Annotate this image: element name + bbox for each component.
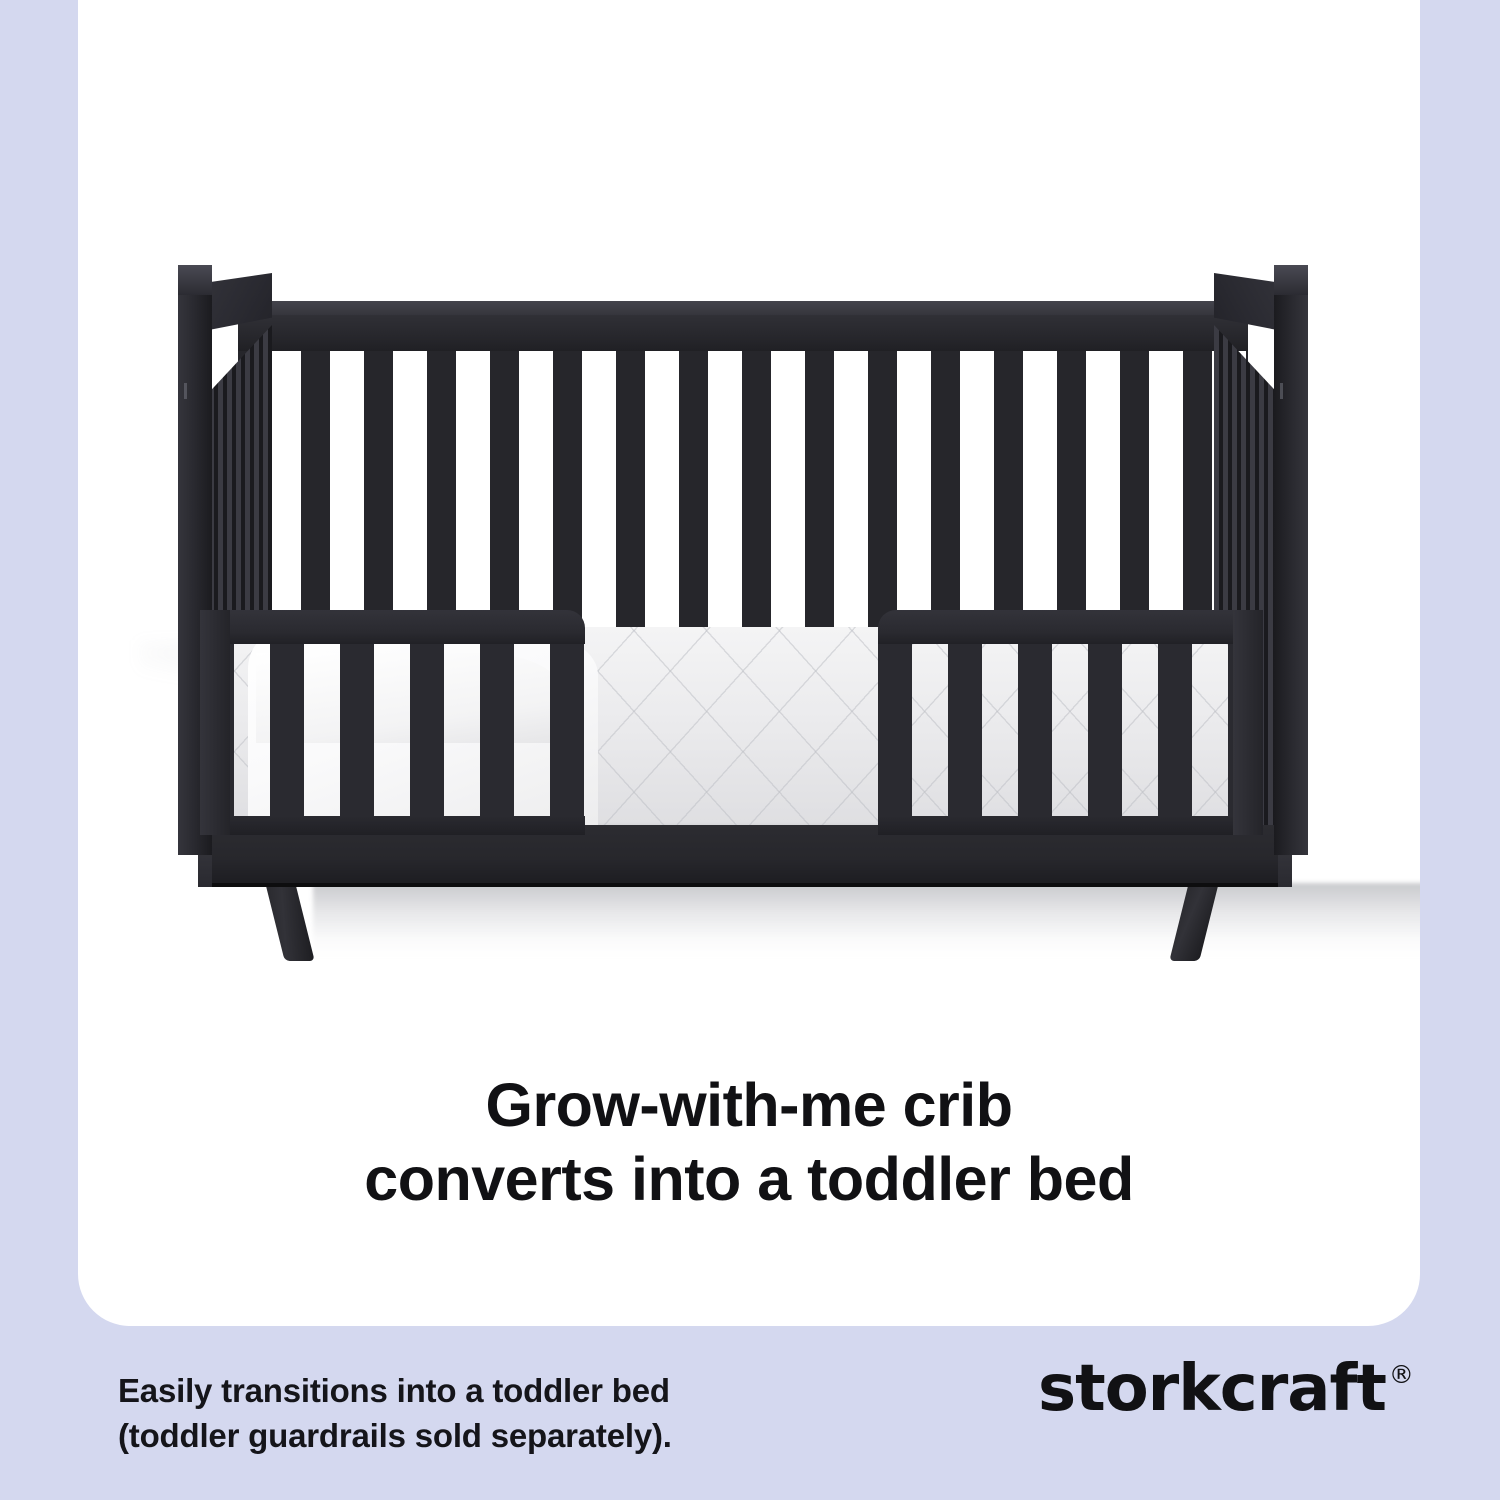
convertible-crib — [178, 255, 1308, 1000]
registered-trademark-icon: ® — [1389, 1361, 1414, 1389]
footer-caption-line-1: Easily transitions into a toddler bed — [118, 1368, 672, 1413]
headline-line-1: Grow-with-me crib — [78, 1068, 1420, 1142]
product-image-card: Grow-with-me crib converts into a toddle… — [78, 0, 1420, 1326]
footer-caption: Easily transitions into a toddler bed (t… — [118, 1368, 672, 1458]
headline: Grow-with-me crib converts into a toddle… — [78, 1068, 1420, 1216]
back-rail — [238, 315, 1248, 355]
guardrail-top-rail-left — [200, 610, 585, 644]
toddler-guardrail-right — [878, 610, 1263, 835]
crib-product-photo — [78, 0, 1420, 1060]
corner-post-left-cap — [178, 265, 212, 295]
corner-post-left-notch — [184, 383, 187, 399]
product-marketing-image: Grow-with-me crib converts into a toddle… — [0, 0, 1500, 1500]
corner-post-right-body — [1274, 283, 1308, 855]
guardrail-bottom-rail-right — [878, 816, 1263, 835]
brand-logo-wordmark: storkcraft — [1038, 1357, 1386, 1421]
footer-caption-line-2: (toddler guardrails sold separately). — [118, 1413, 672, 1458]
corner-post-right-cap — [1274, 265, 1308, 295]
brand-logo: storkcraft ® — [1038, 1357, 1414, 1421]
headline-line-2: converts into a toddler bed — [78, 1142, 1420, 1216]
corner-post-right-notch — [1280, 383, 1283, 399]
floor-shadow — [313, 883, 1420, 958]
guardrail-slats-left — [200, 644, 585, 816]
guardrail-bottom-rail-left — [200, 816, 585, 835]
guardrail-endpost-left — [200, 610, 230, 835]
toddler-guardrail-left — [200, 610, 585, 835]
guardrail-endpost-right — [1233, 610, 1263, 835]
guardrail-top-rail-right — [878, 610, 1263, 644]
guardrail-slats-right — [878, 644, 1263, 816]
corner-post-right — [1274, 255, 1308, 855]
